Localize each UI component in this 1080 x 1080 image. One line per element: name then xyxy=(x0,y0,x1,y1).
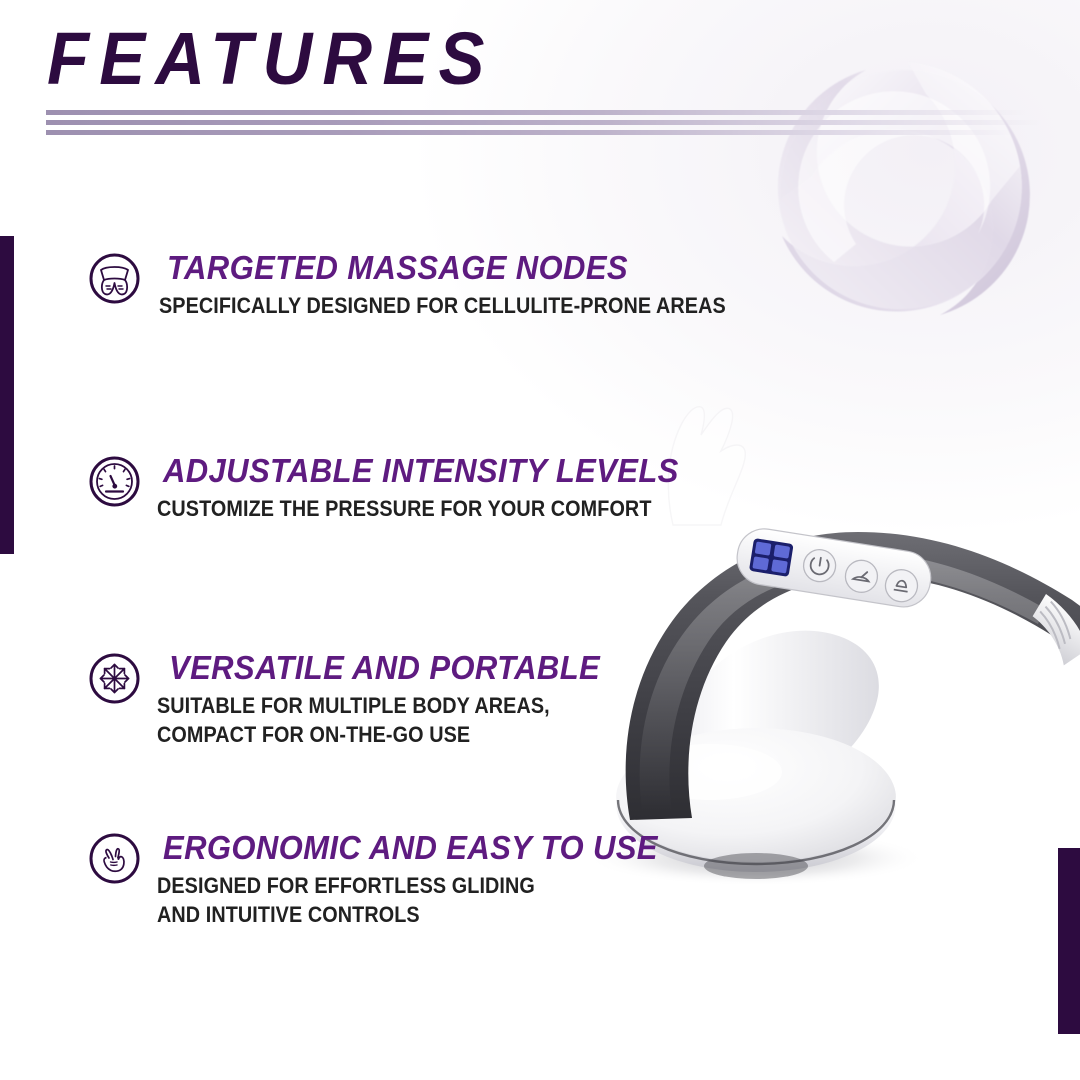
feature-subtitle-line: SUITABLE FOR MULTIPLE BODY AREAS, xyxy=(157,691,581,720)
rule-line-2 xyxy=(46,120,1072,125)
page-title: FEATURES xyxy=(47,20,495,98)
feature-subtitle-line: DESIGNED FOR EFFORTLESS GLIDING xyxy=(157,871,636,900)
feature-item-ergonomic-and-easy-to-use: ERGONOMIC AND EASY TO USE DESIGNED FOR E… xyxy=(88,830,689,929)
feature-heading: VERSATILE AND PORTABLE xyxy=(169,650,600,686)
feature-item-versatile-and-portable: VERSATILE AND PORTABLE SUITABLE FOR MULT… xyxy=(88,650,628,749)
feature-item-targeted-massage-nodes: TARGETED MASSAGE NODES SPECIFICALLY DESI… xyxy=(88,250,789,320)
rule-line-3 xyxy=(46,130,1046,135)
feature-subtitle-line: COMPACT FOR ON-THE-GO USE xyxy=(157,720,581,749)
feature-heading: TARGETED MASSAGE NODES xyxy=(167,250,751,286)
abstract-ribbon-swirl xyxy=(690,0,1080,410)
feature-heading: ADJUSTABLE INTENSITY LEVELS xyxy=(163,453,679,489)
feature-text-block: ERGONOMIC AND EASY TO USE DESIGNED FOR E… xyxy=(163,830,689,929)
feature-subtitle-line: CUSTOMIZE THE PRESSURE FOR YOUR COMFORT xyxy=(157,494,656,523)
infographic-canvas: FEATURES xyxy=(0,0,1080,1080)
feature-text-block: TARGETED MASSAGE NODES SPECIFICALLY DESI… xyxy=(163,250,789,320)
feature-item-adjustable-intensity-levels: ADJUSTABLE INTENSITY LEVELS CUSTOMIZE TH… xyxy=(88,453,712,523)
feature-text-block: VERSATILE AND PORTABLE SUITABLE FOR MULT… xyxy=(163,650,628,749)
hand-peace-sign-icon xyxy=(88,832,141,885)
rule-line-1 xyxy=(46,110,1056,115)
body-torso-icon xyxy=(88,252,141,305)
feature-subtitle-line: SPECIFICALLY DESIGNED FOR CELLULITE-PRON… xyxy=(159,291,726,320)
gauge-speedometer-icon xyxy=(88,455,141,508)
feature-text-block: ADJUSTABLE INTENSITY LEVELS CUSTOMIZE TH… xyxy=(163,453,712,523)
feature-heading: ERGONOMIC AND EASY TO USE xyxy=(163,830,658,866)
left-accent-bar xyxy=(0,236,14,554)
title-underline-rules xyxy=(46,110,1080,140)
multi-direction-arrows-icon xyxy=(88,652,141,705)
feature-subtitle-line: AND INTUITIVE CONTROLS xyxy=(157,900,636,929)
